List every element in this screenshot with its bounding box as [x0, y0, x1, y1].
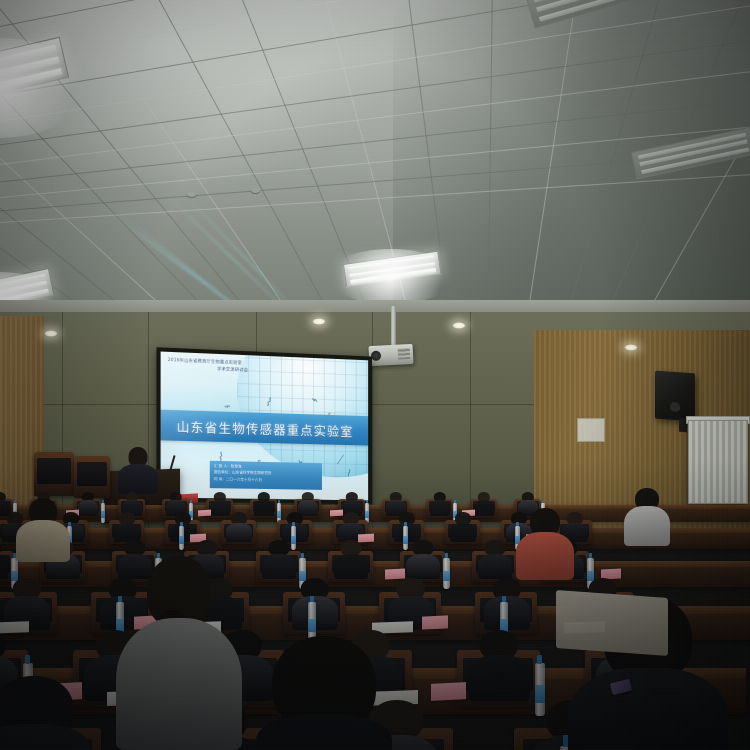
- conference-room-photo: ⌁⟆⌇⟋⌁⟆⌇⟆⌁⟋⌇ 2016年山东省教育厅生物重点实验室 学术交流研讨会 山…: [0, 0, 750, 750]
- projection-screen: ⌁⟆⌇⟋⌁⟆⌇⟆⌁⟋⌇ 2016年山东省教育厅生物重点实验室 学术交流研讨会 山…: [156, 347, 371, 504]
- projector-mount-pole: [391, 306, 396, 348]
- audience-member: [334, 540, 368, 576]
- audience-member-light-jacket: [16, 498, 70, 558]
- smoke-detector-icon: [187, 192, 196, 197]
- desk-name-card: [431, 682, 466, 701]
- audience-member: [122, 492, 142, 514]
- audience-member: [78, 492, 98, 514]
- audience-member: [342, 492, 362, 514]
- desk-name-card: [422, 616, 448, 630]
- audience-member: [210, 492, 230, 514]
- audience-member: [450, 512, 476, 540]
- audience-member: [262, 540, 296, 576]
- slide-info-band: 汇 报 人：陈慧海 报告单位：山东省科学院生物研究所 时 间：二〇一六年十月十六…: [210, 461, 322, 490]
- downlight-icon: [312, 318, 326, 325]
- audience-member: [468, 630, 530, 696]
- audience-member-foreground-right: [256, 636, 392, 750]
- audience-member: [0, 540, 8, 576]
- audience-member: [166, 492, 186, 514]
- audience-member: [474, 492, 494, 514]
- smoke-detector-icon: [251, 188, 260, 193]
- audience-member: [254, 492, 274, 514]
- projector-vent: [398, 348, 411, 360]
- projector-lens-icon: [371, 351, 382, 362]
- downlight-icon: [44, 330, 58, 337]
- audience-member: [0, 492, 10, 514]
- audience-member-grey-sweater: [116, 556, 242, 746]
- audience-member: [406, 540, 440, 576]
- radiator: [688, 420, 748, 504]
- audience-member: [4, 578, 50, 626]
- desk-name-card: [198, 509, 211, 516]
- audience-member: [386, 492, 406, 514]
- molecule-glyph-icon: ⌁: [222, 400, 232, 413]
- water-bottle: [101, 503, 105, 523]
- draped-coat: [556, 590, 668, 656]
- slide-info-line-3: 时 间：二〇一六年十月十六日: [214, 476, 318, 484]
- slide-title: 山东省生物传感器重点实验室: [177, 416, 354, 440]
- projector: [369, 344, 414, 366]
- audience-member-white-shirt: [624, 488, 670, 542]
- audience-member: [226, 512, 252, 540]
- audience-member-red-sweater: [516, 508, 574, 576]
- audience-member: [114, 512, 140, 540]
- water-bottle: [443, 558, 449, 589]
- presenter: [118, 447, 158, 491]
- audience-member: [430, 492, 450, 514]
- audience-member-foreground-left: [0, 676, 90, 750]
- head-table-chair: [34, 452, 74, 496]
- water-bottle: [179, 526, 184, 550]
- audience-member: [478, 540, 512, 576]
- wall-panel-plate: [577, 418, 605, 442]
- downlight-icon: [624, 344, 638, 351]
- downlight-icon: [452, 322, 466, 329]
- audience-member: [298, 492, 318, 514]
- wall-speaker-icon: [655, 371, 695, 422]
- slide-title-band: 山东省生物传感器重点实验室: [161, 410, 369, 446]
